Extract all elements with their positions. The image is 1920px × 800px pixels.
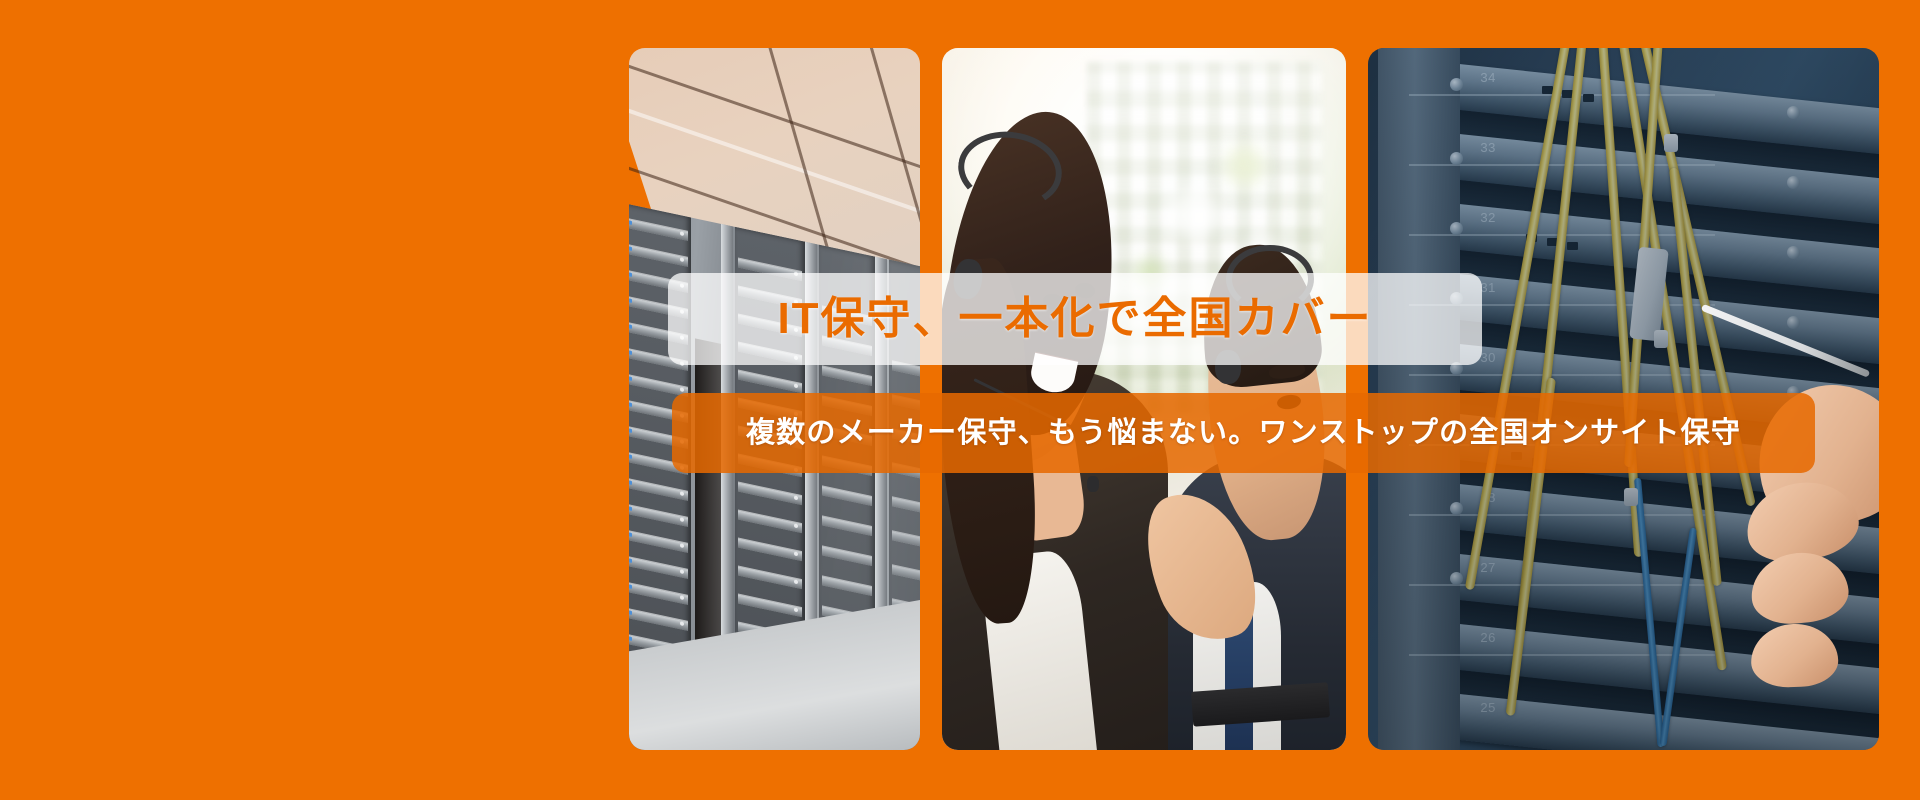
page-subtitle: 複数のメーカー保守、もう悩まない。ワンストップの全国オンサイト保守 [746, 419, 1741, 448]
page-title: IT保守、一本化で全国カバー [777, 297, 1372, 341]
hero-banner: 34 33 32 31 30 29 28 27 26 25 [0, 0, 1920, 800]
subheadline-bar: 複数のメーカー保守、もう悩まない。ワンストップの全国オンサイト保守 [672, 393, 1815, 473]
headline-bar: IT保守、一本化で全国カバー [668, 273, 1482, 365]
